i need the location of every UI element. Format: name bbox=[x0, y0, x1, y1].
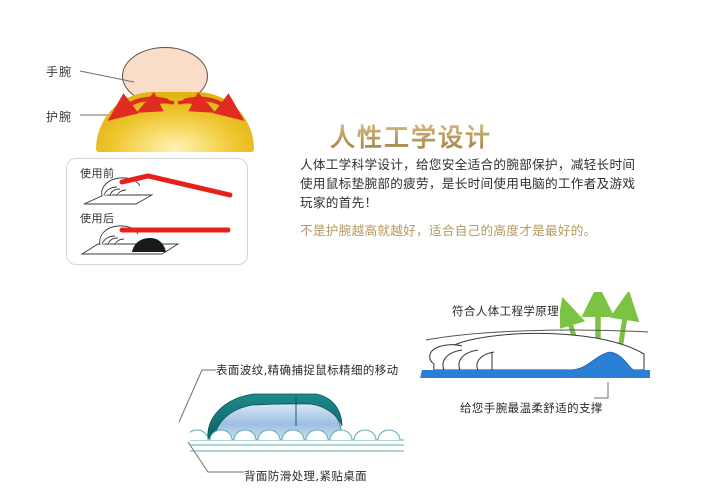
gold-highlight-line: 不是护腕越高就越好，适合自己的高度才是最好的。 bbox=[300, 221, 597, 240]
pressure-arrows-red bbox=[96, 88, 256, 124]
sketch-after-use bbox=[78, 208, 238, 260]
hand-on-wrist-rest-illustration bbox=[420, 312, 650, 392]
label-surface-texture: 表面波纹,精确捕捉鼠标精细的移动 bbox=[216, 362, 399, 378]
sketch-before-use bbox=[78, 162, 238, 212]
label-anti-slip: 背面防滑处理,紧贴桌面 bbox=[244, 468, 367, 484]
leader-line-wrist bbox=[78, 62, 138, 86]
label-gentle-support: 给您手腕最温柔舒适的支撑 bbox=[460, 400, 603, 416]
mouse-on-pad-illustration bbox=[190, 378, 410, 464]
body-paragraph: 人体工学科学设计，给您安全适合的腕部保护，减轻长时间使用鼠标垫腕部的疲劳，是长时… bbox=[300, 155, 640, 212]
label-wrist: 手腕 bbox=[46, 63, 72, 80]
label-wrist-rest: 护腕 bbox=[46, 108, 72, 125]
page-title: 人性工学设计 bbox=[330, 118, 492, 154]
poster-canvas: 手腕 护腕 使用前 使用后 bbox=[0, 0, 704, 494]
